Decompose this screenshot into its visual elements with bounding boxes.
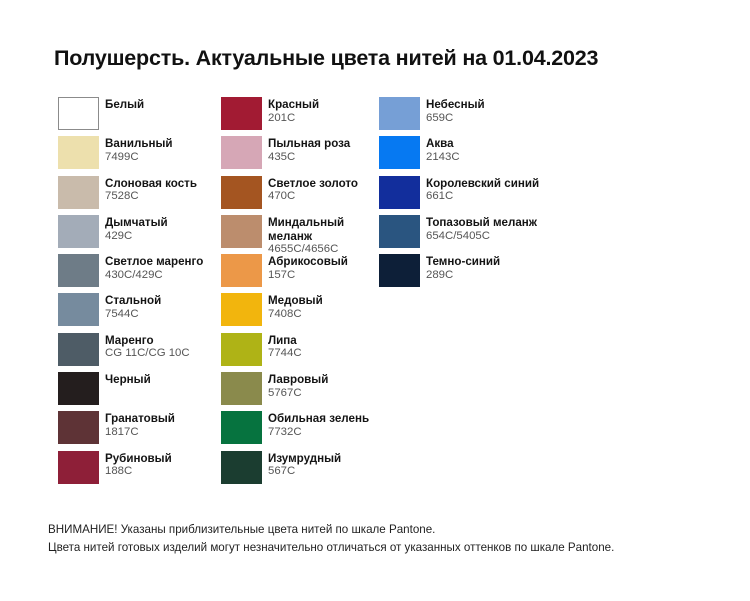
- color-swatch: [221, 451, 262, 484]
- swatch-row: Стальной7544C: [58, 293, 221, 332]
- swatch-name: Аква: [426, 137, 460, 151]
- swatch-name: Небесный: [426, 98, 485, 112]
- swatch-text: Слоновая кость7528C: [105, 176, 197, 204]
- swatch-text: Топазовый меланж654C/5405C: [426, 215, 537, 243]
- swatch-row: Ванильный7499C: [58, 136, 221, 175]
- swatch-row: Липа7744C: [221, 333, 379, 372]
- swatch-text: Миндальный меланж4655C/4656C: [268, 215, 374, 257]
- swatch-pantone-code: 1817C: [105, 426, 175, 439]
- swatch-pantone-code: CG 11C/CG 10C: [105, 347, 190, 360]
- color-swatch: [58, 97, 99, 130]
- color-swatch: [379, 97, 420, 130]
- swatch-name: Медовый: [268, 294, 323, 308]
- swatch-row: Миндальный меланж4655C/4656C: [221, 215, 379, 254]
- swatch-name: Светлое золото: [268, 177, 358, 191]
- swatch-pantone-code: 654C/5405C: [426, 230, 537, 243]
- swatch-text: Рубиновый188C: [105, 451, 172, 479]
- swatch-row: Гранатовый1817C: [58, 411, 221, 450]
- color-swatch: [379, 215, 420, 248]
- swatch-row: Светлое золото470C: [221, 176, 379, 215]
- swatch-row: Топазовый меланж654C/5405C: [379, 215, 579, 254]
- swatch-name: Черный: [105, 373, 151, 387]
- swatch-name: Слоновая кость: [105, 177, 197, 191]
- swatch-text: Светлое золото470C: [268, 176, 358, 204]
- swatch-text: Ванильный7499C: [105, 136, 172, 164]
- footnote-line: Цвета нитей готовых изделий могут незнач…: [48, 539, 614, 557]
- swatch-row: Лавровый5767C: [221, 372, 379, 411]
- color-swatch: [379, 176, 420, 209]
- swatch-row: Пыльная роза435C: [221, 136, 379, 175]
- swatch-pantone-code: 201C: [268, 112, 319, 125]
- swatch-row: Абрикосовый157C: [221, 254, 379, 293]
- swatch-text: Черный: [105, 372, 151, 387]
- swatch-text: МаренгоCG 11C/CG 10C: [105, 333, 190, 361]
- swatch-text: Красный201C: [268, 97, 319, 125]
- swatch-name: Абрикосовый: [268, 255, 348, 269]
- swatch-name: Красный: [268, 98, 319, 112]
- swatch-text: Липа7744C: [268, 333, 302, 361]
- color-swatch: [58, 411, 99, 444]
- swatch-row: Белый: [58, 97, 221, 136]
- swatch-name: Ванильный: [105, 137, 172, 151]
- swatch-row: Рубиновый188C: [58, 451, 221, 490]
- color-swatch: [221, 136, 262, 169]
- swatch-text: Медовый7408C: [268, 293, 323, 321]
- swatch-row: МаренгоCG 11C/CG 10C: [58, 333, 221, 372]
- swatch-row: Светлое маренго430C/429C: [58, 254, 221, 293]
- page-title: Полушерсть. Актуальные цвета нитей на 01…: [54, 46, 598, 71]
- swatch-text: Обильная зелень7732C: [268, 411, 369, 439]
- swatch-pantone-code: 7408C: [268, 308, 323, 321]
- swatch-pantone-code: 7744C: [268, 347, 302, 360]
- swatch-pantone-code: 661C: [426, 190, 539, 203]
- color-swatch: [221, 411, 262, 444]
- swatch-text: Лавровый5767C: [268, 372, 328, 400]
- color-swatch: [58, 215, 99, 248]
- swatch-pantone-code: 430C/429C: [105, 269, 203, 282]
- color-swatch: [379, 254, 420, 287]
- color-swatch: [221, 372, 262, 405]
- swatch-name: Стальной: [105, 294, 161, 308]
- color-swatch: [58, 451, 99, 484]
- swatch-pantone-code: 429C: [105, 230, 168, 243]
- swatch-name: Светлое маренго: [105, 255, 203, 269]
- color-swatch: [221, 176, 262, 209]
- swatch-column-2: Красный201CПыльная роза435CСветлое золот…: [221, 97, 379, 490]
- swatch-pantone-code: 659C: [426, 112, 485, 125]
- swatch-text: Гранатовый1817C: [105, 411, 175, 439]
- swatch-name: Липа: [268, 334, 302, 348]
- swatch-text: Изумрудный567C: [268, 451, 341, 479]
- swatch-row: Медовый7408C: [221, 293, 379, 332]
- swatch-name: Лавровый: [268, 373, 328, 387]
- swatch-text: Аква2143C: [426, 136, 460, 164]
- color-swatch: [58, 372, 99, 405]
- swatch-text: Абрикосовый157C: [268, 254, 348, 282]
- swatch-pantone-code: 567C: [268, 465, 341, 478]
- swatch-text: Королевский синий661C: [426, 176, 539, 204]
- swatch-name: Изумрудный: [268, 452, 341, 466]
- swatch-text: Стальной7544C: [105, 293, 161, 321]
- color-swatch: [379, 136, 420, 169]
- footnote-line: ВНИМАНИЕ! Указаны приблизительные цвета …: [48, 521, 614, 539]
- swatch-text: Дымчатый429C: [105, 215, 168, 243]
- color-swatch: [221, 97, 262, 130]
- swatch-pantone-code: 2143C: [426, 151, 460, 164]
- swatch-name: Миндальный меланж: [268, 216, 374, 243]
- swatch-name: Гранатовый: [105, 412, 175, 426]
- color-swatch: [58, 176, 99, 209]
- color-chart-page: Полушерсть. Актуальные цвета нитей на 01…: [0, 0, 750, 601]
- footnotes: ВНИМАНИЕ! Указаны приблизительные цвета …: [48, 521, 614, 557]
- swatch-row: Черный: [58, 372, 221, 411]
- swatch-pantone-code: 7528C: [105, 190, 197, 203]
- color-swatch: [58, 333, 99, 366]
- swatch-columns: БелыйВанильный7499CСлоновая кость7528CДы…: [58, 97, 698, 490]
- swatch-name: Пыльная роза: [268, 137, 350, 151]
- swatch-pantone-code: 289C: [426, 269, 500, 282]
- swatch-row: Слоновая кость7528C: [58, 176, 221, 215]
- swatch-row: Аква2143C: [379, 136, 579, 175]
- swatch-pantone-code: 470C: [268, 190, 358, 203]
- swatch-name: Рубиновый: [105, 452, 172, 466]
- swatch-column-3: Небесный659CАква2143CКоролевский синий66…: [379, 97, 579, 490]
- swatch-row: Небесный659C: [379, 97, 579, 136]
- color-swatch: [58, 254, 99, 287]
- swatch-pantone-code: 188C: [105, 465, 172, 478]
- color-swatch: [221, 215, 262, 248]
- swatch-row: Темно-синий289C: [379, 254, 579, 293]
- swatch-text: Светлое маренго430C/429C: [105, 254, 203, 282]
- swatch-row: Изумрудный567C: [221, 451, 379, 490]
- swatch-name: Маренго: [105, 334, 190, 348]
- swatch-row: Обильная зелень7732C: [221, 411, 379, 450]
- swatch-pantone-code: 435C: [268, 151, 350, 164]
- color-swatch: [221, 333, 262, 366]
- swatch-name: Белый: [105, 98, 144, 112]
- swatch-row: Красный201C: [221, 97, 379, 136]
- swatch-row: Дымчатый429C: [58, 215, 221, 254]
- swatch-name: Обильная зелень: [268, 412, 369, 426]
- swatch-text: Темно-синий289C: [426, 254, 500, 282]
- swatch-name: Топазовый меланж: [426, 216, 537, 230]
- swatch-text: Пыльная роза435C: [268, 136, 350, 164]
- swatch-pantone-code: 7544C: [105, 308, 161, 321]
- swatch-name: Дымчатый: [105, 216, 168, 230]
- color-swatch: [58, 136, 99, 169]
- swatch-name: Темно-синий: [426, 255, 500, 269]
- color-swatch: [221, 254, 262, 287]
- swatch-column-1: БелыйВанильный7499CСлоновая кость7528CДы…: [58, 97, 221, 490]
- swatch-row: Королевский синий661C: [379, 176, 579, 215]
- swatch-text: Небесный659C: [426, 97, 485, 125]
- color-swatch: [58, 293, 99, 326]
- swatch-pantone-code: 5767C: [268, 387, 328, 400]
- color-swatch: [221, 293, 262, 326]
- swatch-name: Королевский синий: [426, 177, 539, 191]
- swatch-pantone-code: 7732C: [268, 426, 369, 439]
- swatch-pantone-code: 7499C: [105, 151, 172, 164]
- swatch-text: Белый: [105, 97, 144, 112]
- swatch-pantone-code: 157C: [268, 269, 348, 282]
